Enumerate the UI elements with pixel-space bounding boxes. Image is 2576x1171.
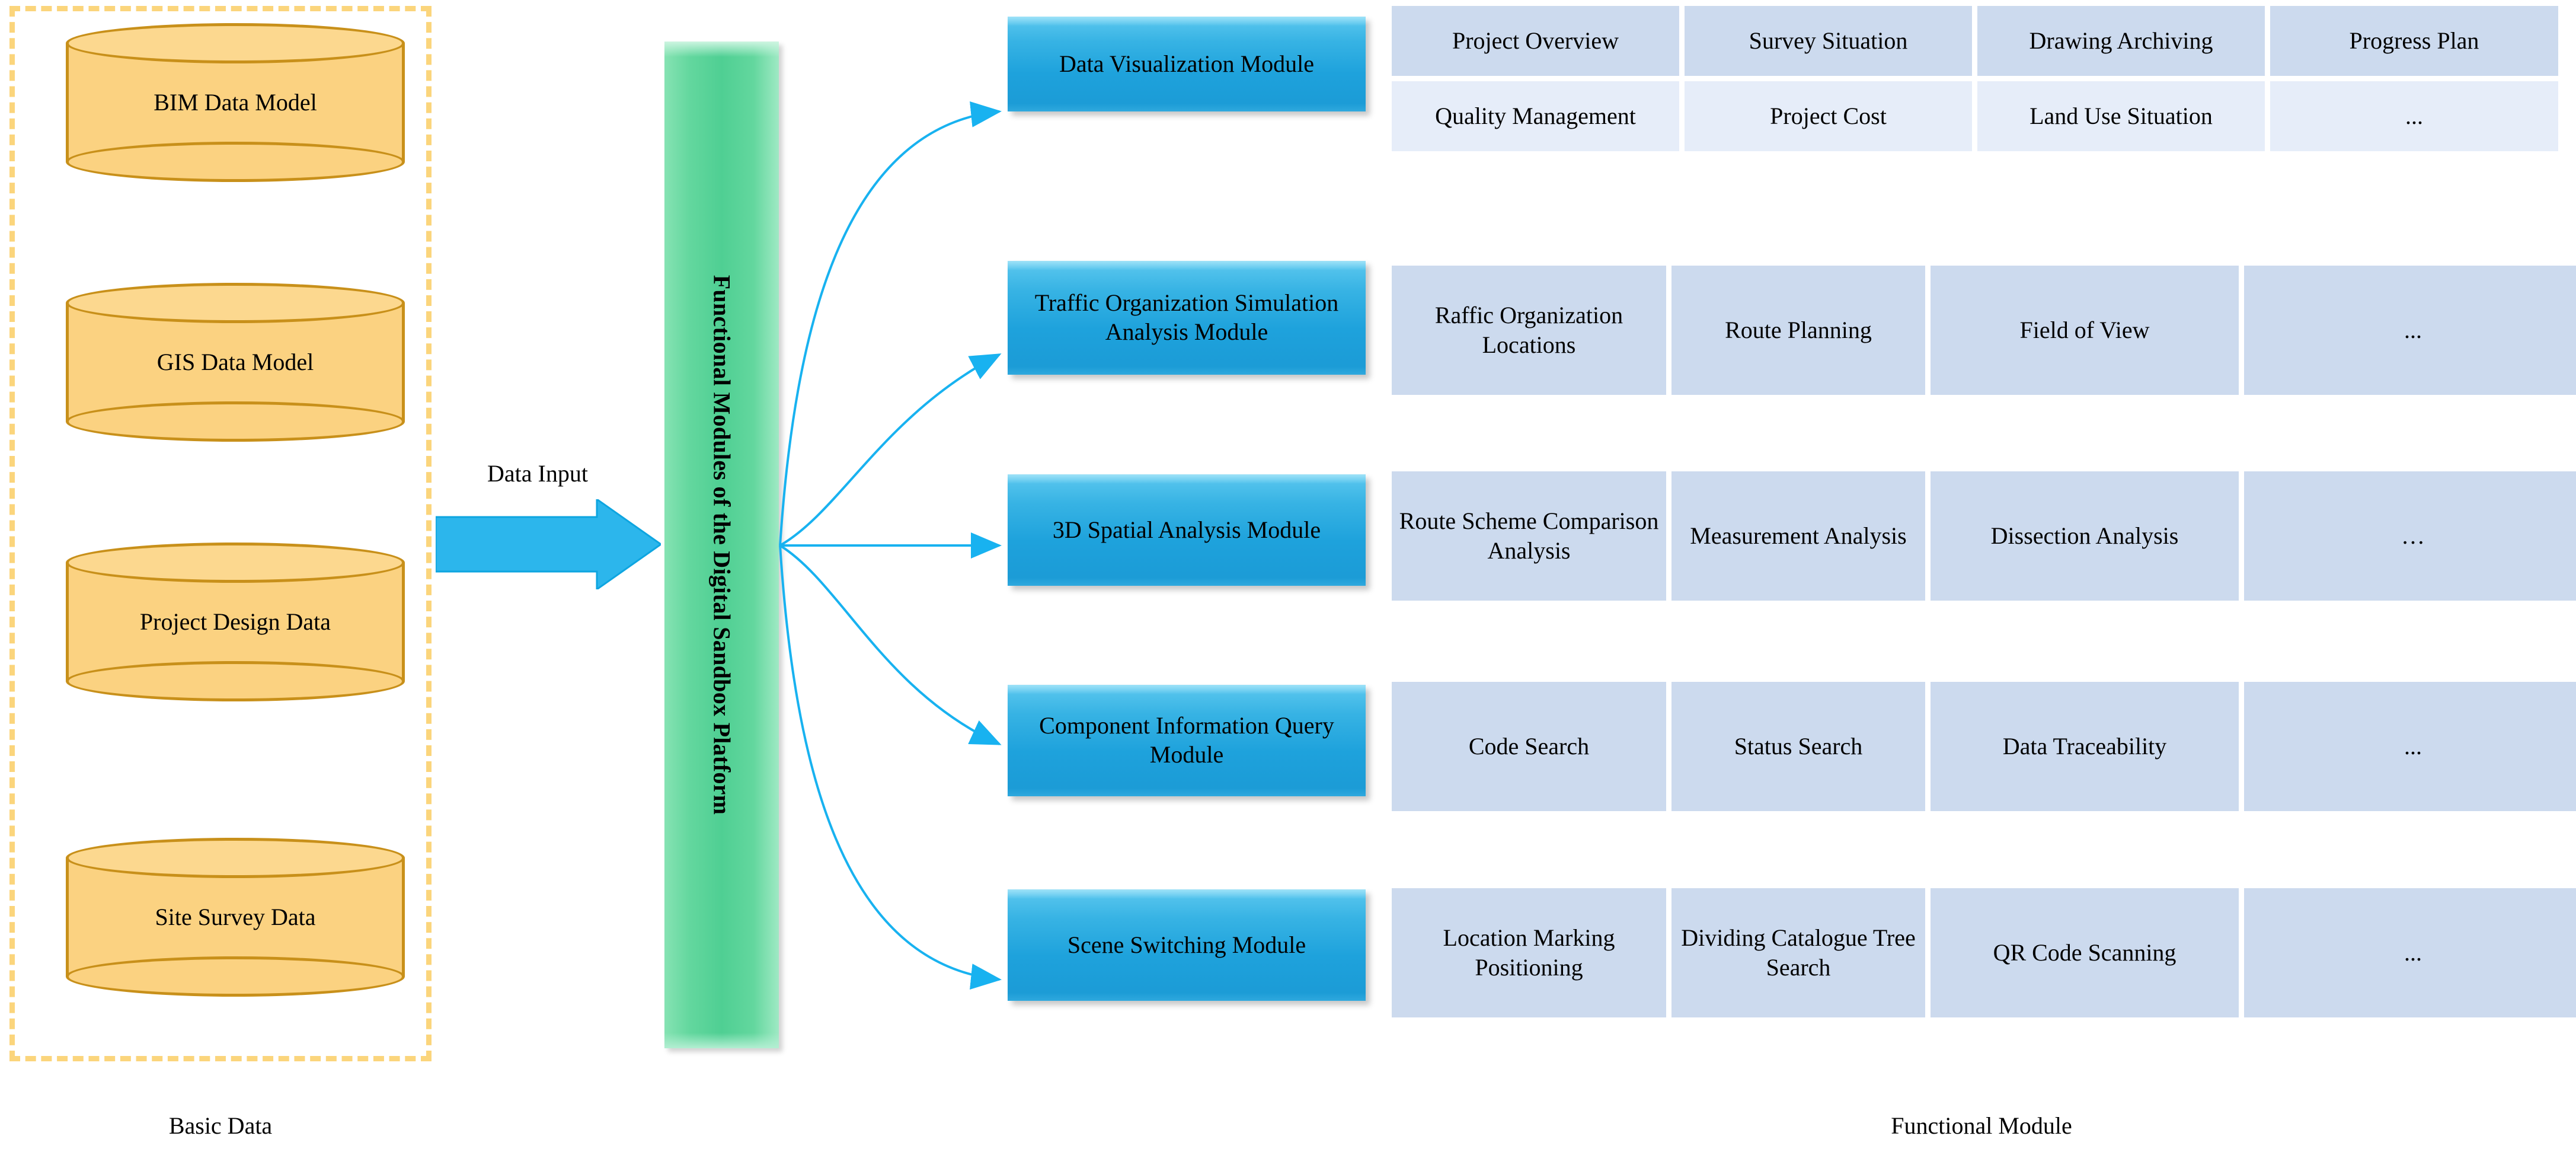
feature-table-row: Raffic Organization LocationsRoute Plann… [1392, 266, 2576, 395]
basic-data-group: BIM Data Model GIS Data Model Project De… [9, 6, 432, 1061]
data-input-arrow-icon [436, 499, 661, 589]
data-source-label: Project Design Data [66, 543, 405, 701]
connector-to-module-2 [780, 355, 999, 545]
feature-table-row: Quality ManagementProject CostLand Use S… [1392, 81, 2558, 151]
platform-bar-bevel-top [664, 42, 779, 57]
feature-cell[interactable]: Route Planning [1671, 266, 1925, 395]
data-source-label: GIS Data Model [66, 283, 405, 442]
feature-table-group-component-query: Code SearchStatus SearchData Traceabilit… [1392, 682, 2576, 811]
feature-table-row: Location Marking PositioningDividing Cat… [1392, 888, 2576, 1017]
feature-cell[interactable]: Dissection Analysis [1931, 471, 2239, 601]
data-source-cylinder-bim[interactable]: BIM Data Model [66, 23, 405, 182]
row-spacer [1392, 76, 2558, 81]
data-source-cylinder-site-survey[interactable]: Site Survey Data [66, 838, 405, 997]
feature-table-group-3d-spatial: Route Scheme Comparison AnalysisMeasurem… [1392, 471, 2576, 601]
data-input-label: Data Input [440, 460, 635, 487]
module-box-data-visualization[interactable]: Data Visualization Module [1008, 17, 1366, 111]
feature-cell[interactable]: Measurement Analysis [1671, 471, 1925, 601]
feature-cell[interactable]: Survey Situation [1685, 6, 1972, 76]
feature-table-group-data-visualization: Project OverviewSurvey SituationDrawing … [1392, 6, 2558, 151]
feature-cell[interactable]: Route Scheme Comparison Analysis [1392, 471, 1666, 601]
module-box-traffic-organization-simulation[interactable]: Traffic Organization Simulation Analysis… [1008, 261, 1366, 375]
platform-bar-bevel-bottom [664, 1033, 779, 1048]
feature-cell[interactable]: Data Traceability [1931, 682, 2239, 811]
feature-cell[interactable]: Status Search [1671, 682, 1925, 811]
feature-cell[interactable]: ... [2270, 81, 2558, 151]
feature-cell[interactable]: ... [2244, 682, 2576, 811]
module-label: Component Information Query Module [1008, 711, 1366, 770]
feature-cell[interactable]: Drawing Archiving [1977, 6, 2265, 76]
data-source-cylinder-project-design[interactable]: Project Design Data [66, 543, 405, 701]
feature-cell[interactable]: Location Marking Positioning [1392, 888, 1666, 1017]
module-label: Scene Switching Module [1052, 931, 1321, 960]
feature-cell[interactable]: Field of View [1931, 266, 2239, 395]
feature-cell[interactable]: Land Use Situation [1977, 81, 2265, 151]
module-box-3d-spatial-analysis[interactable]: 3D Spatial Analysis Module [1008, 474, 1366, 586]
feature-table-group-traffic-organization: Raffic Organization LocationsRoute Plann… [1392, 266, 2576, 395]
feature-table-group-scene-switching: Location Marking PositioningDividing Cat… [1392, 888, 2576, 1017]
feature-table-row: Code SearchStatus SearchData Traceabilit… [1392, 682, 2576, 811]
feature-cell[interactable]: QR Code Scanning [1931, 888, 2239, 1017]
connector-to-module-1 [780, 111, 999, 545]
feature-table-row: Route Scheme Comparison AnalysisMeasurem… [1392, 471, 2576, 601]
feature-cell[interactable]: Dividing Catalogue Tree Search [1671, 888, 1925, 1017]
module-label: 3D Spatial Analysis Module [1037, 516, 1336, 545]
data-source-label: BIM Data Model [66, 23, 405, 182]
functional-module-caption: Functional Module [1392, 1112, 2571, 1140]
connector-to-module-5 [780, 545, 999, 979]
module-box-component-information-query[interactable]: Component Information Query Module [1008, 685, 1366, 796]
module-box-scene-switching[interactable]: Scene Switching Module [1008, 889, 1366, 1001]
feature-cell[interactable]: Raffic Organization Locations [1392, 266, 1666, 395]
module-label: Traffic Organization Simulation Analysis… [1008, 289, 1366, 347]
connector-to-module-4 [780, 545, 999, 744]
data-source-label: Site Survey Data [66, 838, 405, 997]
module-label: Data Visualization Module [1044, 50, 1329, 79]
feature-cell[interactable]: Code Search [1392, 682, 1666, 811]
feature-table-row: Project OverviewSurvey SituationDrawing … [1392, 6, 2558, 76]
feature-cell[interactable]: Progress Plan [2270, 6, 2558, 76]
data-source-cylinder-gis[interactable]: GIS Data Model [66, 283, 405, 442]
feature-cell[interactable]: … [2244, 471, 2576, 601]
feature-cell[interactable]: ... [2244, 888, 2576, 1017]
basic-data-caption: Basic Data [9, 1112, 432, 1140]
feature-cell[interactable]: Project Cost [1685, 81, 1972, 151]
platform-bar[interactable]: Functional Modules of the Digital Sandbo… [664, 42, 779, 1048]
platform-bar-label: Functional Modules of the Digital Sandbo… [708, 275, 736, 815]
feature-cell[interactable]: ... [2244, 266, 2576, 395]
feature-cell[interactable]: Quality Management [1392, 81, 1679, 151]
feature-cell[interactable]: Project Overview [1392, 6, 1679, 76]
